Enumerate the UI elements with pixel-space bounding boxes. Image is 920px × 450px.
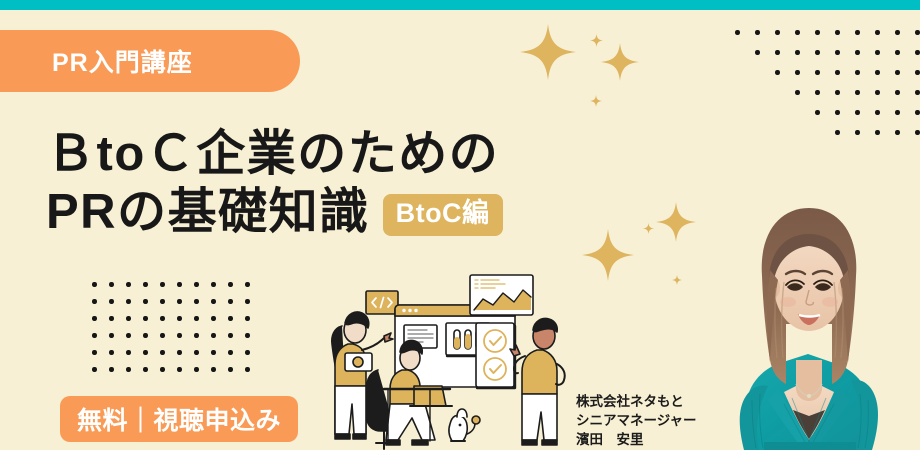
decor-dot <box>915 70 920 75</box>
decor-dot <box>855 70 860 75</box>
decor-dot <box>109 299 114 304</box>
decor-dot <box>855 50 860 55</box>
decor-dot <box>177 299 182 304</box>
decor-dot <box>228 367 233 372</box>
headline-text-1: ＢtoＣ企業のための <box>46 126 499 184</box>
decor-dot <box>109 350 114 355</box>
decor-dot <box>835 50 840 55</box>
decor-dot <box>228 350 233 355</box>
decor-dot <box>915 110 920 115</box>
speaker-title: シニアマネージャー <box>576 411 697 430</box>
decor-dot <box>160 350 165 355</box>
decor-dot <box>775 50 780 55</box>
decor-dot <box>835 90 840 95</box>
decor-dot <box>126 282 131 287</box>
speaker-portrait <box>700 178 920 450</box>
decor-dot <box>815 50 820 55</box>
decor-dot <box>126 350 131 355</box>
decor-dot <box>126 333 131 338</box>
decor-dot <box>835 30 840 35</box>
decor-dot <box>228 299 233 304</box>
decor-dot <box>795 70 800 75</box>
decor-dot <box>126 299 131 304</box>
decor-dot <box>855 90 860 95</box>
decor-dot <box>160 333 165 338</box>
decor-dot <box>211 316 216 321</box>
decor-dot <box>143 282 148 287</box>
decor-dot <box>245 350 250 355</box>
decor-dot <box>915 130 920 135</box>
person-standing-right <box>510 318 565 445</box>
headline-line-1: ＢtoＣ企業のための <box>46 126 503 184</box>
speaker-company: 株式会社ネタもと <box>576 392 697 411</box>
decor-dot <box>875 110 880 115</box>
decor-dot <box>755 50 760 55</box>
speaker-name: 濱田 安里 <box>576 430 697 449</box>
decor-dot <box>160 316 165 321</box>
decor-dot <box>855 130 860 135</box>
decor-dot <box>160 299 165 304</box>
decor-dot <box>895 130 900 135</box>
decor-dot <box>177 316 182 321</box>
decor-dot <box>835 110 840 115</box>
sparkle-large-right-icon <box>582 229 634 281</box>
decor-dot <box>228 333 233 338</box>
decor-dot <box>109 367 114 372</box>
decor-dot <box>875 70 880 75</box>
decor-dot <box>160 367 165 372</box>
decor-dot <box>211 282 216 287</box>
decor-dot <box>245 282 250 287</box>
decor-dot <box>143 367 148 372</box>
decor-dot <box>815 70 820 75</box>
decor-dot <box>875 130 880 135</box>
decor-dot <box>895 30 900 35</box>
decor-dot <box>795 50 800 55</box>
decor-dot <box>835 70 840 75</box>
decor-dot <box>795 30 800 35</box>
decor-dot <box>160 282 165 287</box>
decor-dot <box>211 333 216 338</box>
headline-line-2: PRの基礎知識 BtoC編 <box>46 184 503 242</box>
top-accent-bar <box>0 0 920 10</box>
eyebrow-label: PR入門講座 <box>52 43 193 79</box>
decor-dot <box>228 316 233 321</box>
decor-dot <box>92 299 97 304</box>
edition-badge: BtoC編 <box>383 194 503 236</box>
decor-dot <box>194 367 199 372</box>
decor-dot <box>895 110 900 115</box>
decor-dot <box>855 110 860 115</box>
decor-dot <box>915 50 920 55</box>
register-button-label: 無料｜視聴申込み <box>77 401 281 437</box>
headline-text-2: PRの基礎知識 <box>46 184 370 242</box>
dog <box>449 409 480 441</box>
decor-dot <box>895 70 900 75</box>
decor-dot <box>177 350 182 355</box>
decor-dot <box>177 333 182 338</box>
sparkle-large-top-icon <box>520 24 576 80</box>
decor-dot <box>194 350 199 355</box>
decor-dot <box>92 333 97 338</box>
decor-dot <box>194 316 199 321</box>
speaker-credit: 株式会社ネタもと シニアマネージャー 濱田 安里 <box>576 392 697 449</box>
decor-dot <box>775 70 780 75</box>
decor-dot <box>194 282 199 287</box>
decor-dot <box>875 90 880 95</box>
decor-dot <box>92 367 97 372</box>
decor-dot <box>92 282 97 287</box>
decor-dot <box>735 30 740 35</box>
decor-dot <box>895 50 900 55</box>
decor-dot <box>755 30 760 35</box>
decor-dot <box>92 316 97 321</box>
sparkle-tiny-right-a-icon <box>643 221 654 232</box>
decor-dot <box>109 282 114 287</box>
decor-dot <box>875 50 880 55</box>
sparkle-medium-top-icon <box>601 43 639 81</box>
decor-dot <box>775 30 780 35</box>
decor-dot <box>795 90 800 95</box>
decor-dot <box>143 350 148 355</box>
decor-dot <box>815 90 820 95</box>
decor-dot <box>177 367 182 372</box>
decor-dot <box>815 30 820 35</box>
decor-dot <box>109 316 114 321</box>
decor-dot <box>211 367 216 372</box>
decor-dot <box>143 299 148 304</box>
decor-dot <box>245 316 250 321</box>
decor-dot <box>895 90 900 95</box>
decor-dot <box>245 367 250 372</box>
team-dashboard-illustration <box>318 268 582 450</box>
decor-dot <box>194 299 199 304</box>
decor-dot <box>875 30 880 35</box>
decor-dot <box>126 367 131 372</box>
decor-dot <box>228 282 233 287</box>
decor-dot <box>815 110 820 115</box>
decor-dot <box>143 316 148 321</box>
decor-dot <box>245 299 250 304</box>
decor-dot <box>92 350 97 355</box>
edition-badge-label: BtoC編 <box>396 198 490 230</box>
decor-dot <box>177 282 182 287</box>
decor-dot <box>835 130 840 135</box>
sparkle-tiny-top-b-icon <box>590 94 602 106</box>
register-button[interactable]: 無料｜視聴申込み <box>60 396 298 442</box>
page-title: ＢtoＣ企業のための PRの基礎知識 BtoC編 <box>46 126 503 242</box>
code-tag-card <box>366 291 398 314</box>
eyebrow-badge: PR入門講座 <box>0 30 300 92</box>
decor-dot <box>143 333 148 338</box>
decor-dot <box>855 30 860 35</box>
decor-dot <box>194 333 199 338</box>
sparkle-tiny-right-b-icon <box>672 272 682 282</box>
area-chart-card <box>470 275 533 315</box>
checklist-panel <box>476 323 515 388</box>
sparkle-tiny-top-a-icon <box>590 34 603 47</box>
decor-dot <box>245 333 250 338</box>
decor-dot <box>211 299 216 304</box>
decor-dot <box>126 316 131 321</box>
decor-dot <box>915 30 920 35</box>
decor-dot <box>211 350 216 355</box>
decor-dot <box>109 333 114 338</box>
sparkle-medium-right-icon <box>656 202 696 242</box>
webinar-banner: PR入門講座 ＢtoＣ企業のための PRの基礎知識 BtoC編 <box>0 0 920 450</box>
decor-dot <box>915 90 920 95</box>
